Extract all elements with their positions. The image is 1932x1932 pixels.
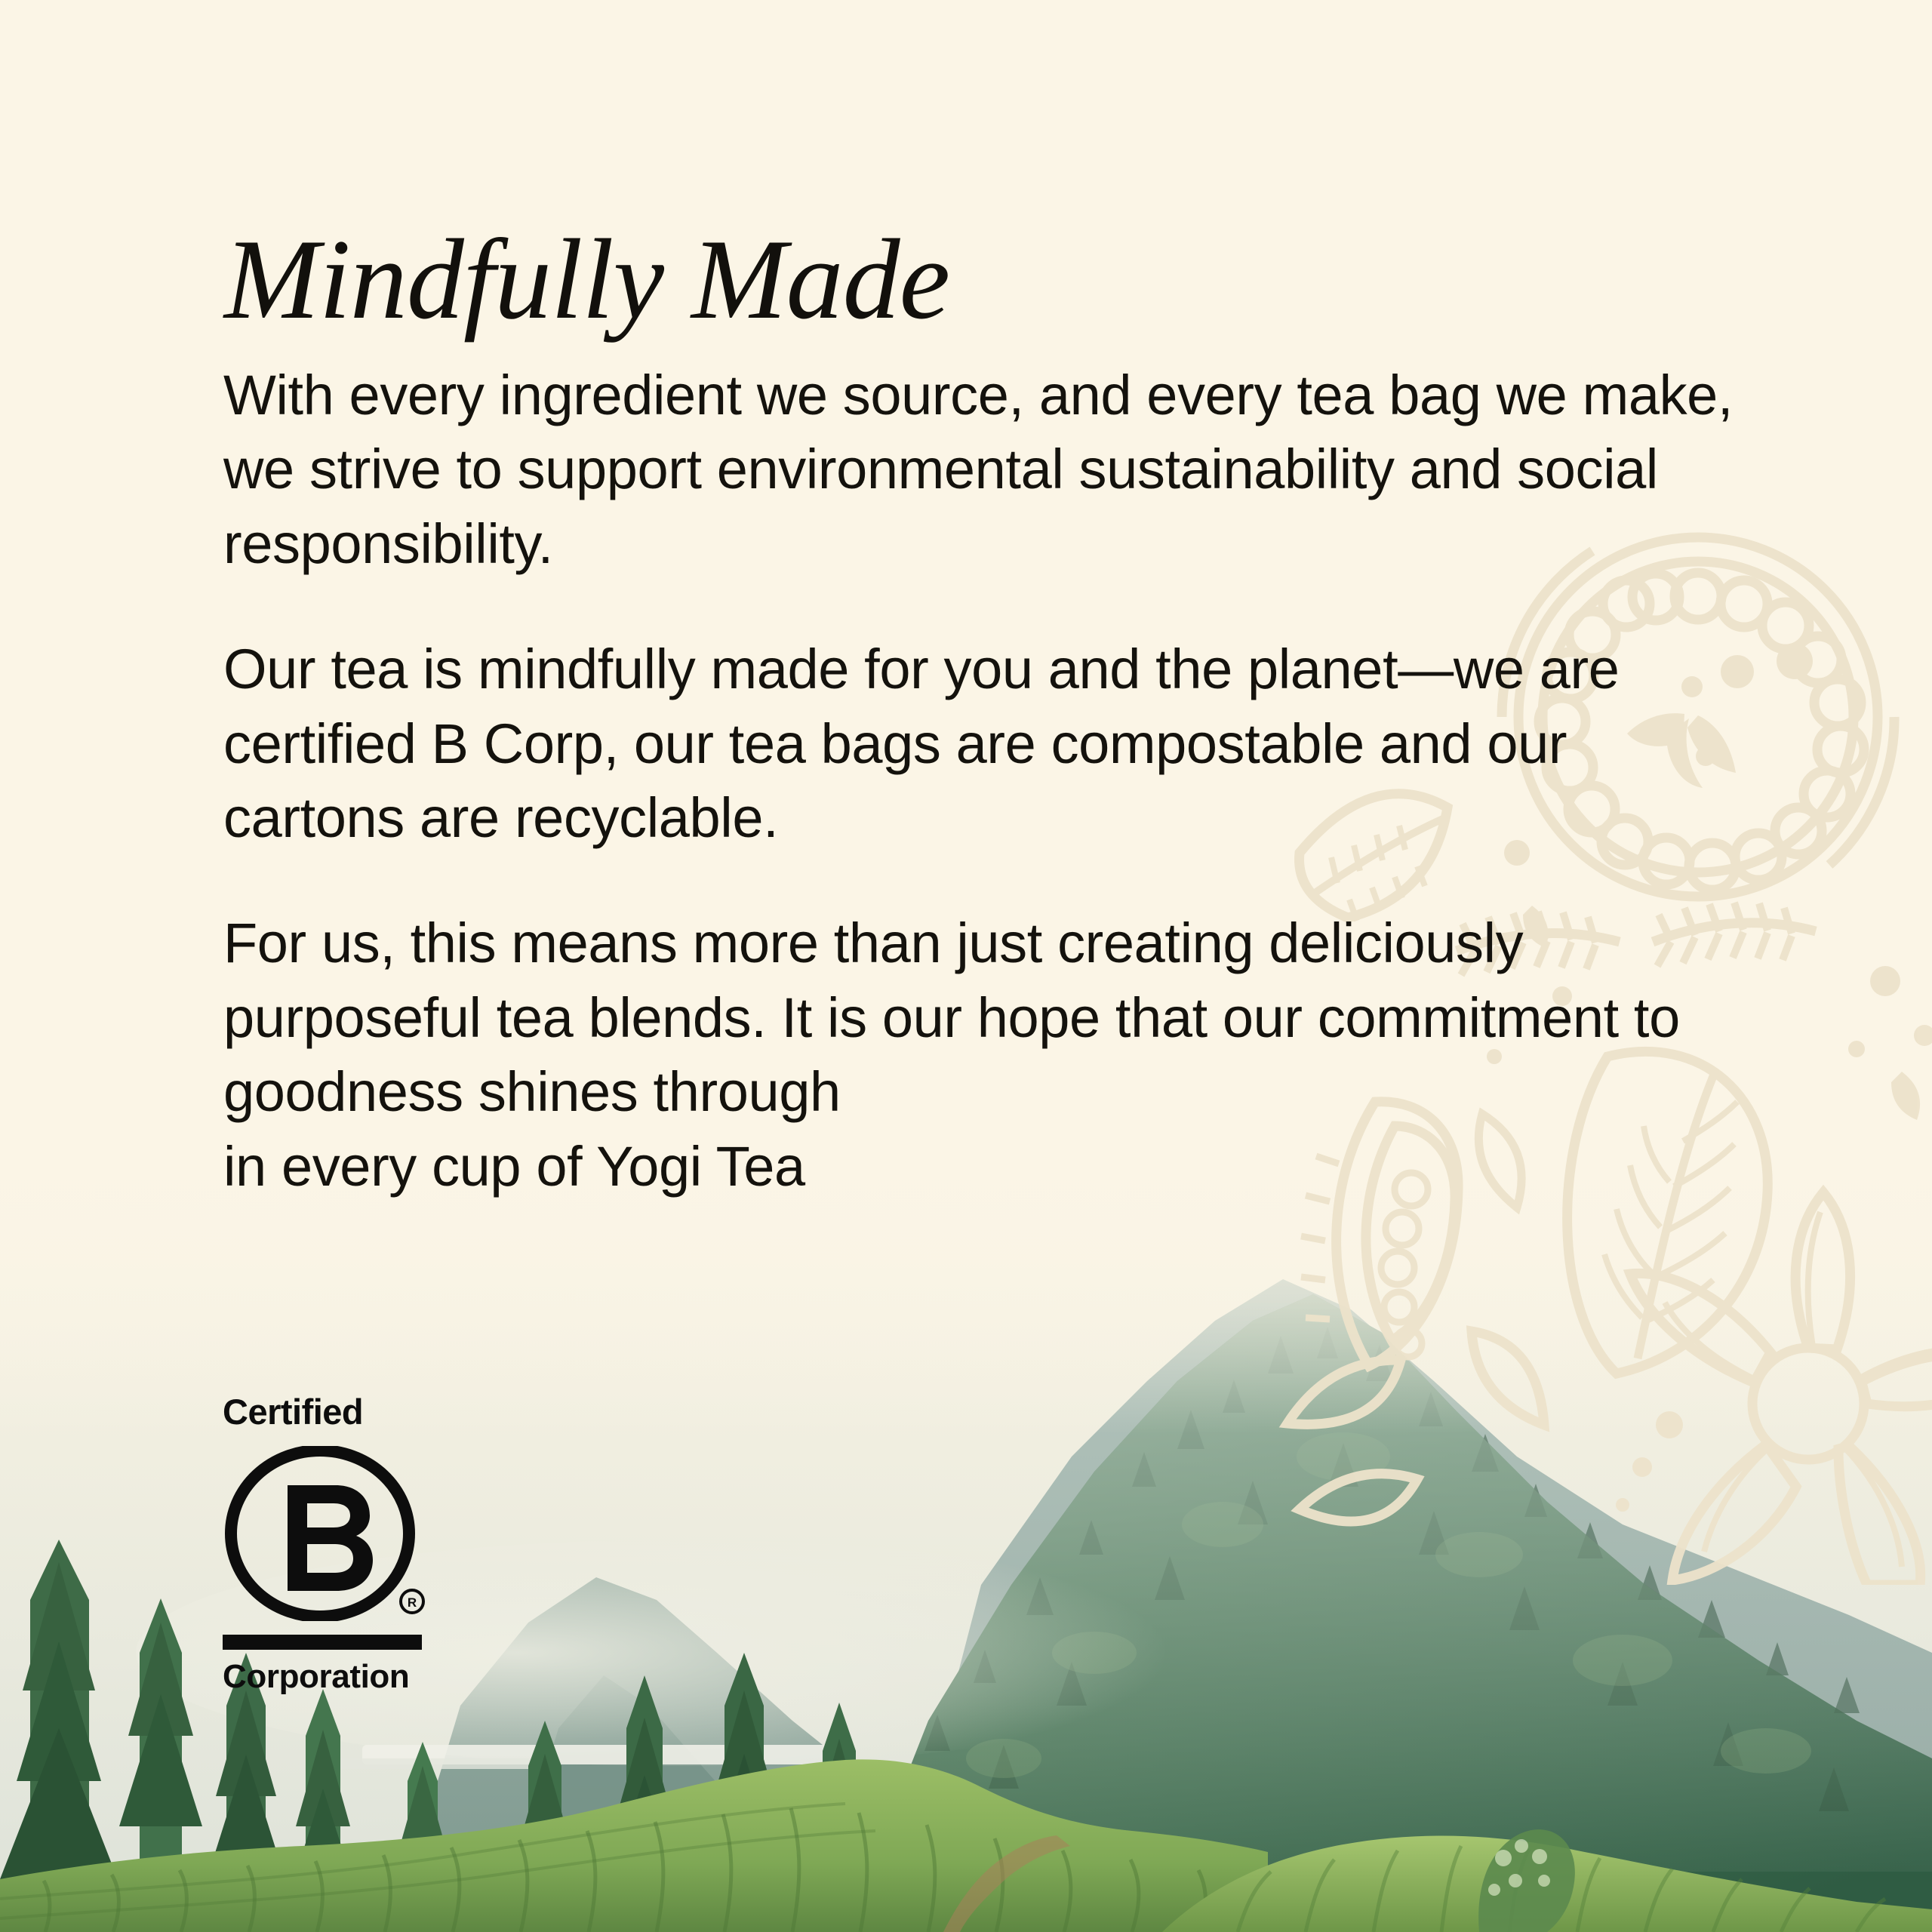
b-corp-certification-logo: Certified R Corporation [221, 1394, 429, 1694]
circle-b-icon: R [221, 1446, 429, 1621]
bcorp-divider-rule [223, 1635, 422, 1650]
bcorp-certified-label: Certified [223, 1394, 429, 1429]
svg-text:R: R [408, 1595, 417, 1610]
bcorp-circle-b-mark: R [221, 1446, 429, 1621]
registered-mark-icon: R [401, 1590, 423, 1613]
paragraph-3: For us, this means more than just creati… [223, 906, 1748, 1204]
mindfully-made-card: Mindfully Made With every ingredient we … [0, 0, 1932, 1932]
body-copy: With every ingredient we source, and eve… [223, 358, 1748, 1204]
bcorp-corporation-label: Corporation [223, 1660, 429, 1694]
paragraph-1: With every ingredient we source, and eve… [223, 358, 1748, 581]
paragraph-2: Our tea is mindfully made for you and th… [223, 632, 1748, 855]
page-title: Mindfully Made [224, 222, 949, 337]
